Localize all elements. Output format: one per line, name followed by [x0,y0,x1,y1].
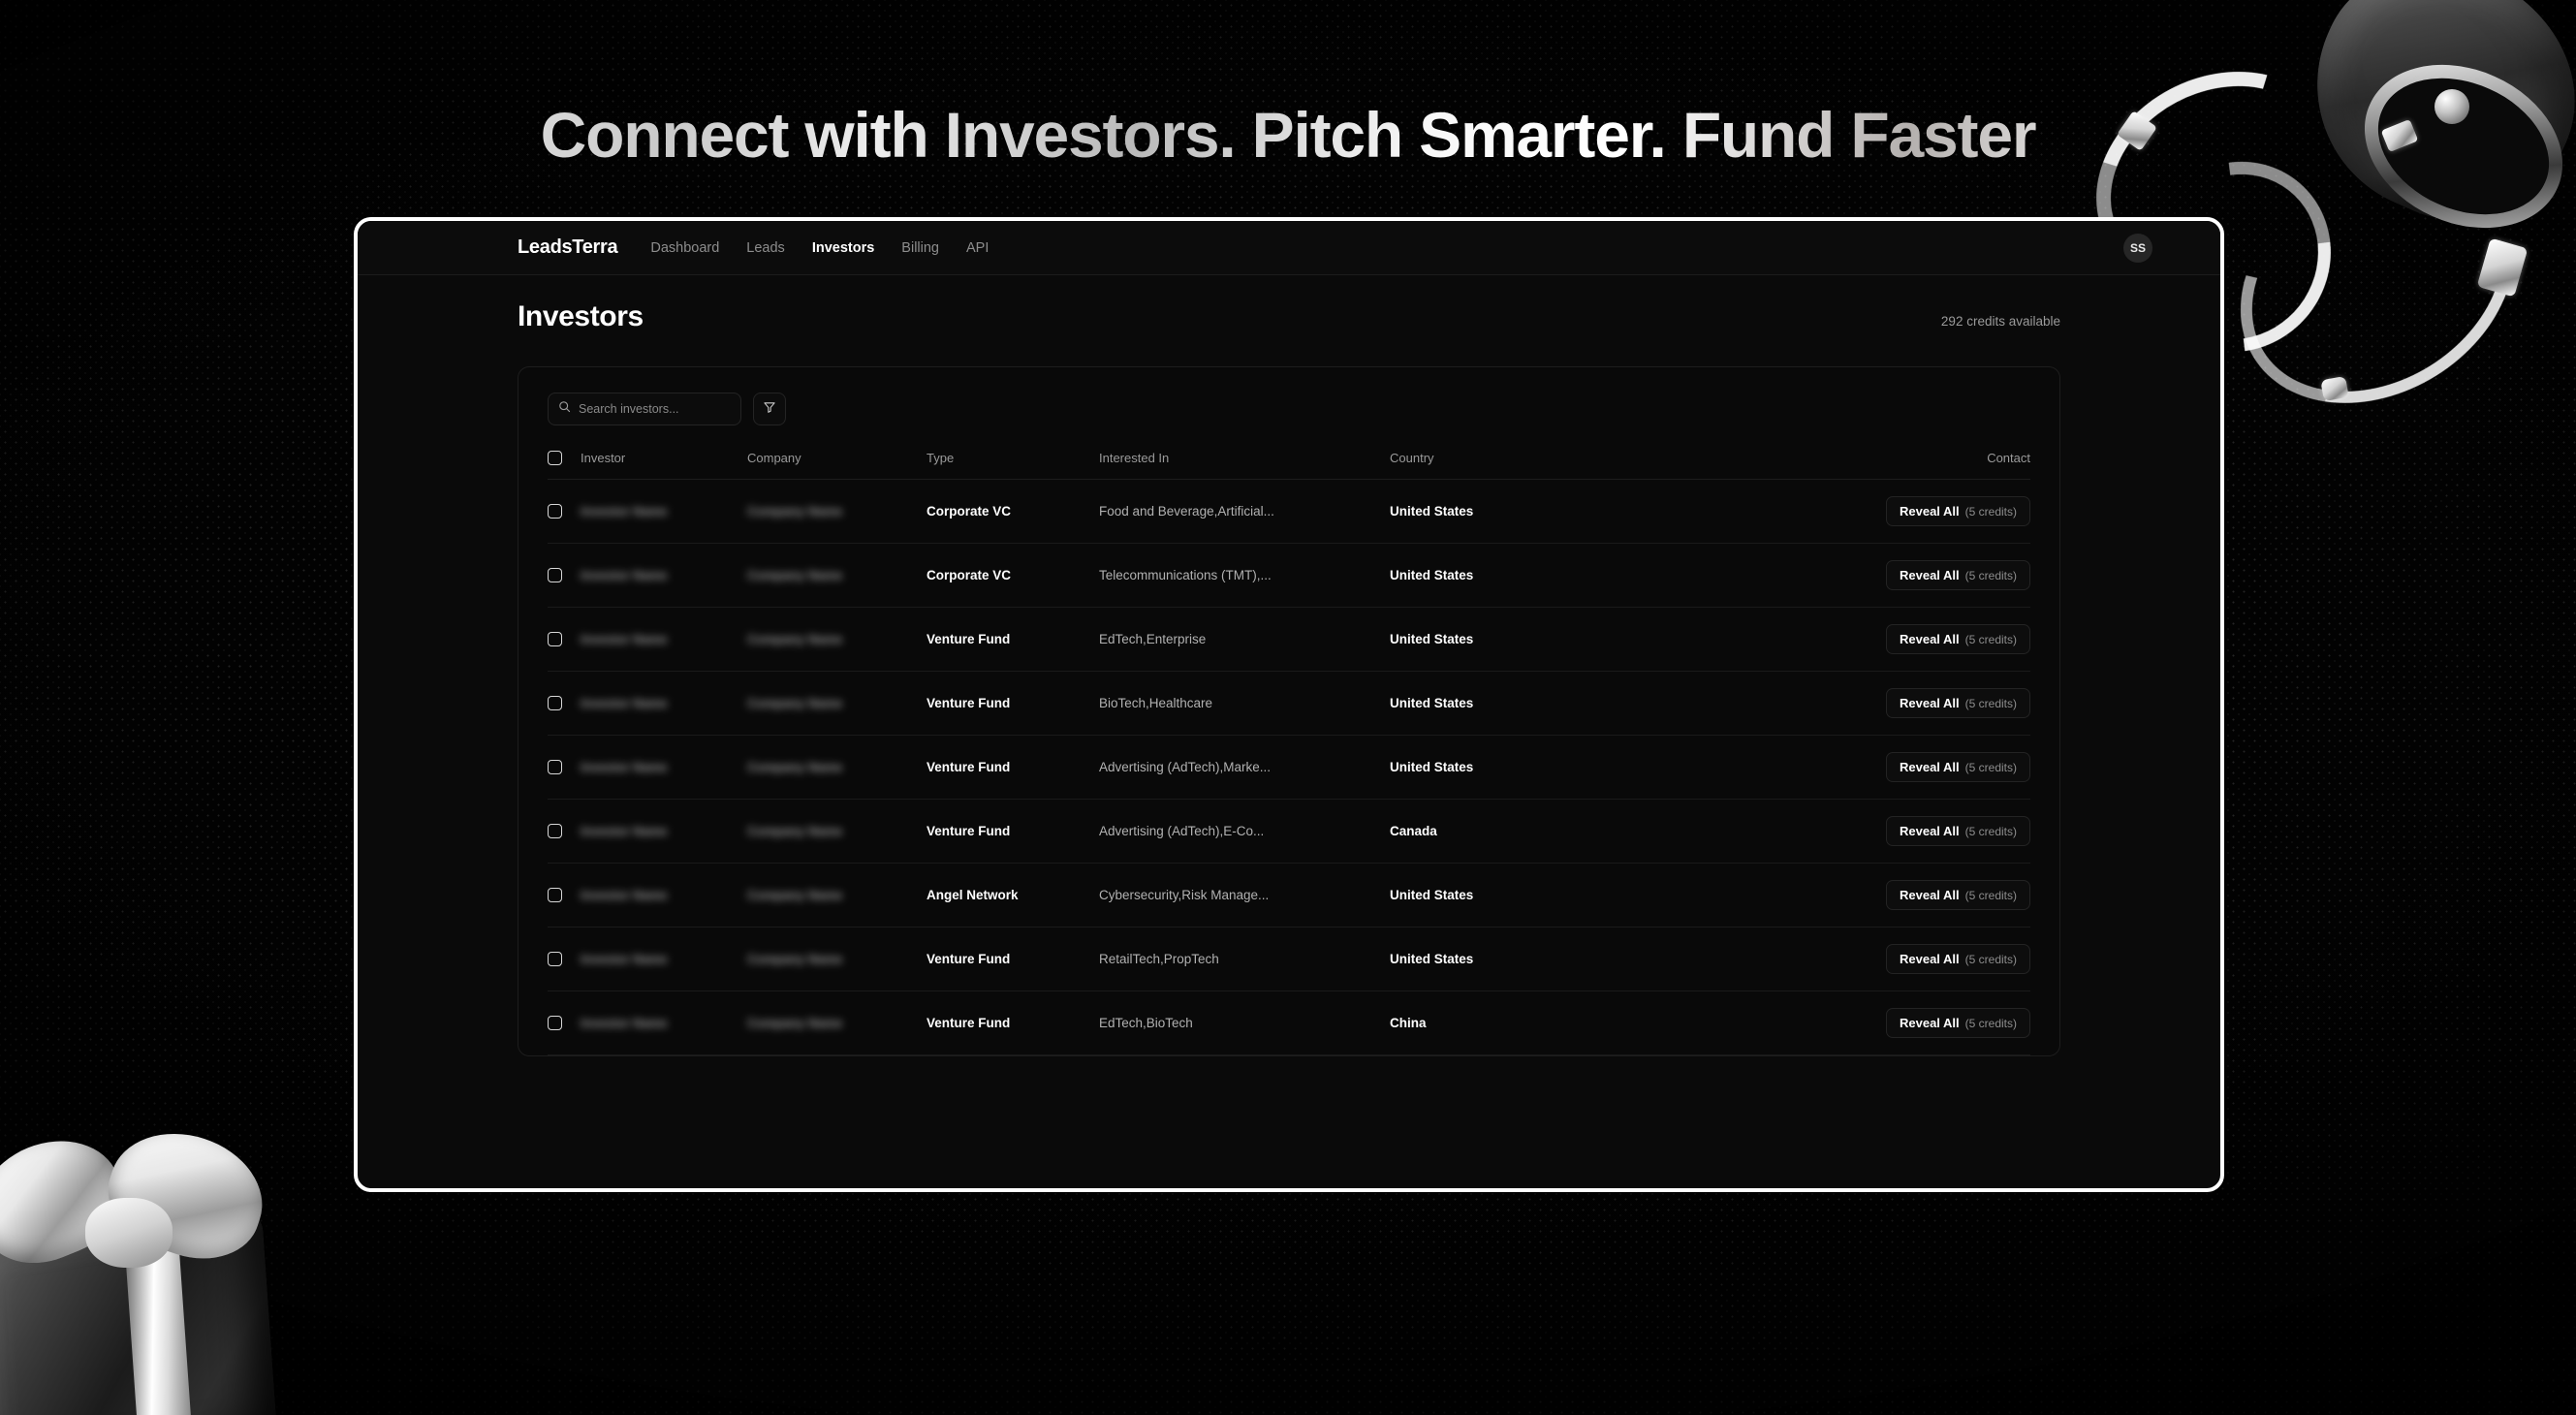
cell-contact: Reveal All(5 credits) [1618,864,2030,928]
cell-country: United States [1390,608,1618,672]
cell-type: Venture Fund [927,991,1099,1055]
reveal-all-button[interactable]: Reveal All(5 credits) [1886,560,2030,590]
row-checkbox[interactable] [548,952,562,966]
reveal-all-button[interactable]: Reveal All(5 credits) [1886,880,2030,910]
cell-company: Company Name [747,672,927,736]
redacted-investor-name: Investor Name [581,760,668,774]
reveal-all-cost: (5 credits) [1965,825,2017,838]
reveal-all-label: Reveal All [1900,824,1960,838]
decorative-3d-gift-box-artwork [0,1085,349,1415]
reveal-all-label: Reveal All [1900,568,1960,582]
reveal-all-label: Reveal All [1900,952,1960,966]
reveal-all-button[interactable]: Reveal All(5 credits) [1886,752,2030,782]
investors-panel: Investor Company Type Interested In Coun… [518,366,2060,1056]
reveal-all-label: Reveal All [1900,888,1960,902]
app-window: LeadsTerra Dashboard Leads Investors Bil… [354,217,2224,1192]
select-all-header [548,451,581,480]
cell-contact: Reveal All(5 credits) [1618,672,2030,736]
search-input[interactable] [579,402,735,416]
cell-company: Company Name [747,480,927,544]
table-header-row: Investor Company Type Interested In Coun… [548,451,2030,480]
cell-type: Venture Fund [927,800,1099,864]
column-header-country[interactable]: Country [1390,451,1618,480]
reveal-all-cost: (5 credits) [1965,953,2017,966]
cell-country: United States [1390,928,1618,991]
credits-available-label: 292 credits available [1941,314,2060,329]
cell-country: Canada [1390,800,1618,864]
cell-company: Company Name [747,736,927,800]
cell-type: Venture Fund [927,928,1099,991]
cell-company: Company Name [747,991,927,1055]
row-select-cell [548,800,581,864]
reveal-all-button[interactable]: Reveal All(5 credits) [1886,624,2030,654]
cell-country: United States [1390,736,1618,800]
redacted-investor-name: Investor Name [581,1016,668,1030]
row-checkbox[interactable] [548,568,562,582]
cell-type: Corporate VC [927,480,1099,544]
reveal-all-label: Reveal All [1900,760,1960,774]
cell-investor: Investor Name [581,864,747,928]
cell-contact: Reveal All(5 credits) [1618,928,2030,991]
cell-country: United States [1390,480,1618,544]
reveal-all-cost: (5 credits) [1965,505,2017,519]
search-field-wrapper[interactable] [548,393,741,425]
cell-contact: Reveal All(5 credits) [1618,544,2030,608]
cell-investor: Investor Name [581,608,747,672]
reveal-all-button[interactable]: Reveal All(5 credits) [1886,816,2030,846]
cell-type: Venture Fund [927,736,1099,800]
reveal-all-button[interactable]: Reveal All(5 credits) [1886,496,2030,526]
row-checkbox[interactable] [548,824,562,838]
cell-company: Company Name [747,800,927,864]
row-checkbox[interactable] [548,696,562,710]
row-select-cell [548,736,581,800]
redacted-company-name: Company Name [747,824,842,838]
redacted-company-name: Company Name [747,696,842,710]
nav-link-investors[interactable]: Investors [812,240,874,256]
cell-contact: Reveal All(5 credits) [1618,991,2030,1055]
cell-investor: Investor Name [581,800,747,864]
table-row[interactable]: Investor NameCompany NameCorporate VCTel… [548,544,2030,608]
cell-investor: Investor Name [581,991,747,1055]
cell-interested-in: Telecommunications (TMT),... [1099,544,1390,608]
cell-investor: Investor Name [581,736,747,800]
redacted-investor-name: Investor Name [581,824,668,838]
search-icon [558,400,571,418]
cell-investor: Investor Name [581,544,747,608]
row-checkbox[interactable] [548,632,562,646]
cell-company: Company Name [747,864,927,928]
cell-interested-in: EdTech,Enterprise [1099,608,1390,672]
column-header-type[interactable]: Type [927,451,1099,480]
redacted-investor-name: Investor Name [581,696,668,710]
avatar[interactable]: SS [2123,234,2152,263]
row-select-cell [548,608,581,672]
reveal-all-cost: (5 credits) [1965,1017,2017,1030]
nav-link-dashboard[interactable]: Dashboard [650,240,719,256]
redacted-company-name: Company Name [747,568,842,582]
cell-interested-in: BioTech,Healthcare [1099,672,1390,736]
table-row[interactable]: Investor NameCompany NameCorporate VCFoo… [548,480,2030,544]
redacted-company-name: Company Name [747,760,842,774]
table-row[interactable]: Investor NameCompany NameVenture FundEdT… [548,608,2030,672]
cell-interested-in: Advertising (AdTech),Marke... [1099,736,1390,800]
row-select-cell [548,991,581,1055]
column-header-company[interactable]: Company [747,451,927,480]
cell-contact: Reveal All(5 credits) [1618,480,2030,544]
reveal-all-label: Reveal All [1900,696,1960,710]
nav-link-leads[interactable]: Leads [746,240,785,256]
reveal-all-button[interactable]: Reveal All(5 credits) [1886,688,2030,718]
reveal-all-cost: (5 credits) [1965,761,2017,774]
row-select-cell [548,928,581,991]
filter-button[interactable] [753,393,786,425]
table-row[interactable]: Investor NameCompany NameVenture FundRet… [548,928,2030,991]
cell-type: Corporate VC [927,544,1099,608]
row-select-cell [548,672,581,736]
cell-type: Venture Fund [927,672,1099,736]
reveal-all-cost: (5 credits) [1965,569,2017,582]
table-row[interactable]: Investor NameCompany NameAngel NetworkCy… [548,864,2030,928]
table-body: Investor NameCompany NameCorporate VCFoo… [548,480,2030,1055]
cell-investor: Investor Name [581,480,747,544]
table-toolbar [548,393,2030,425]
cell-company: Company Name [747,544,927,608]
page-title: Investors [518,300,644,333]
row-checkbox[interactable] [548,504,562,519]
column-header-interested-in[interactable]: Interested In [1099,451,1390,480]
cell-contact: Reveal All(5 credits) [1618,608,2030,672]
row-select-cell [548,544,581,608]
page-header: Investors 292 credits available [518,300,2060,333]
table-row[interactable]: Investor NameCompany NameVenture FundBio… [548,672,2030,736]
redacted-investor-name: Investor Name [581,504,668,519]
cell-country: United States [1390,864,1618,928]
top-navigation-bar: LeadsTerra Dashboard Leads Investors Bil… [358,221,2220,275]
brand-logo[interactable]: LeadsTerra [518,236,617,259]
redacted-company-name: Company Name [747,504,842,519]
cell-company: Company Name [747,928,927,991]
row-checkbox[interactable] [548,760,562,774]
reveal-all-label: Reveal All [1900,504,1960,519]
cell-type: Venture Fund [927,608,1099,672]
redacted-company-name: Company Name [747,888,842,902]
page-root: Connect with Investors. Pitch Smarter. F… [0,0,2576,1415]
reveal-all-cost: (5 credits) [1965,697,2017,710]
cell-investor: Investor Name [581,672,747,736]
reveal-all-button[interactable]: Reveal All(5 credits) [1886,944,2030,974]
redacted-company-name: Company Name [747,632,842,646]
row-select-cell [548,864,581,928]
reveal-all-cost: (5 credits) [1965,889,2017,902]
cell-interested-in: Cybersecurity,Risk Manage... [1099,864,1390,928]
cell-investor: Investor Name [581,928,747,991]
row-checkbox[interactable] [548,1016,562,1030]
page-body: Investors 292 credits available [358,275,2220,1056]
cell-country: United States [1390,672,1618,736]
select-all-checkbox[interactable] [548,451,562,465]
reveal-all-button[interactable]: Reveal All(5 credits) [1886,1008,2030,1038]
cell-contact: Reveal All(5 credits) [1618,736,2030,800]
redacted-investor-name: Investor Name [581,632,668,646]
cell-interested-in: Advertising (AdTech),E-Co... [1099,800,1390,864]
hero-headline: Connect with Investors. Pitch Smarter. F… [0,102,2576,170]
table-row[interactable]: Investor NameCompany NameVenture FundAdv… [548,736,2030,800]
redacted-company-name: Company Name [747,952,842,966]
reveal-all-label: Reveal All [1900,632,1960,646]
cell-interested-in: Food and Beverage,Artificial... [1099,480,1390,544]
nav-link-billing[interactable]: Billing [901,240,939,256]
redacted-investor-name: Investor Name [581,568,668,582]
reveal-all-label: Reveal All [1900,1016,1960,1030]
row-select-cell [548,480,581,544]
cell-country: China [1390,991,1618,1055]
redacted-investor-name: Investor Name [581,888,668,902]
table-row[interactable]: Investor NameCompany NameVenture FundEdT… [548,991,2030,1055]
nav-link-api[interactable]: API [966,240,989,256]
column-header-contact[interactable]: Contact [1618,451,2030,480]
column-header-investor[interactable]: Investor [581,451,747,480]
table-row[interactable]: Investor NameCompany NameVenture FundAdv… [548,800,2030,864]
cell-interested-in: EdTech,BioTech [1099,991,1390,1055]
redacted-company-name: Company Name [747,1016,842,1030]
cell-country: United States [1390,544,1618,608]
cell-interested-in: RetailTech,PropTech [1099,928,1390,991]
cell-company: Company Name [747,608,927,672]
row-checkbox[interactable] [548,888,562,902]
funnel-icon [763,400,776,419]
table-header: Investor Company Type Interested In Coun… [548,451,2030,480]
cell-contact: Reveal All(5 credits) [1618,800,2030,864]
cell-type: Angel Network [927,864,1099,928]
investors-table: Investor Company Type Interested In Coun… [548,451,2030,1055]
redacted-investor-name: Investor Name [581,952,668,966]
reveal-all-cost: (5 credits) [1965,633,2017,646]
